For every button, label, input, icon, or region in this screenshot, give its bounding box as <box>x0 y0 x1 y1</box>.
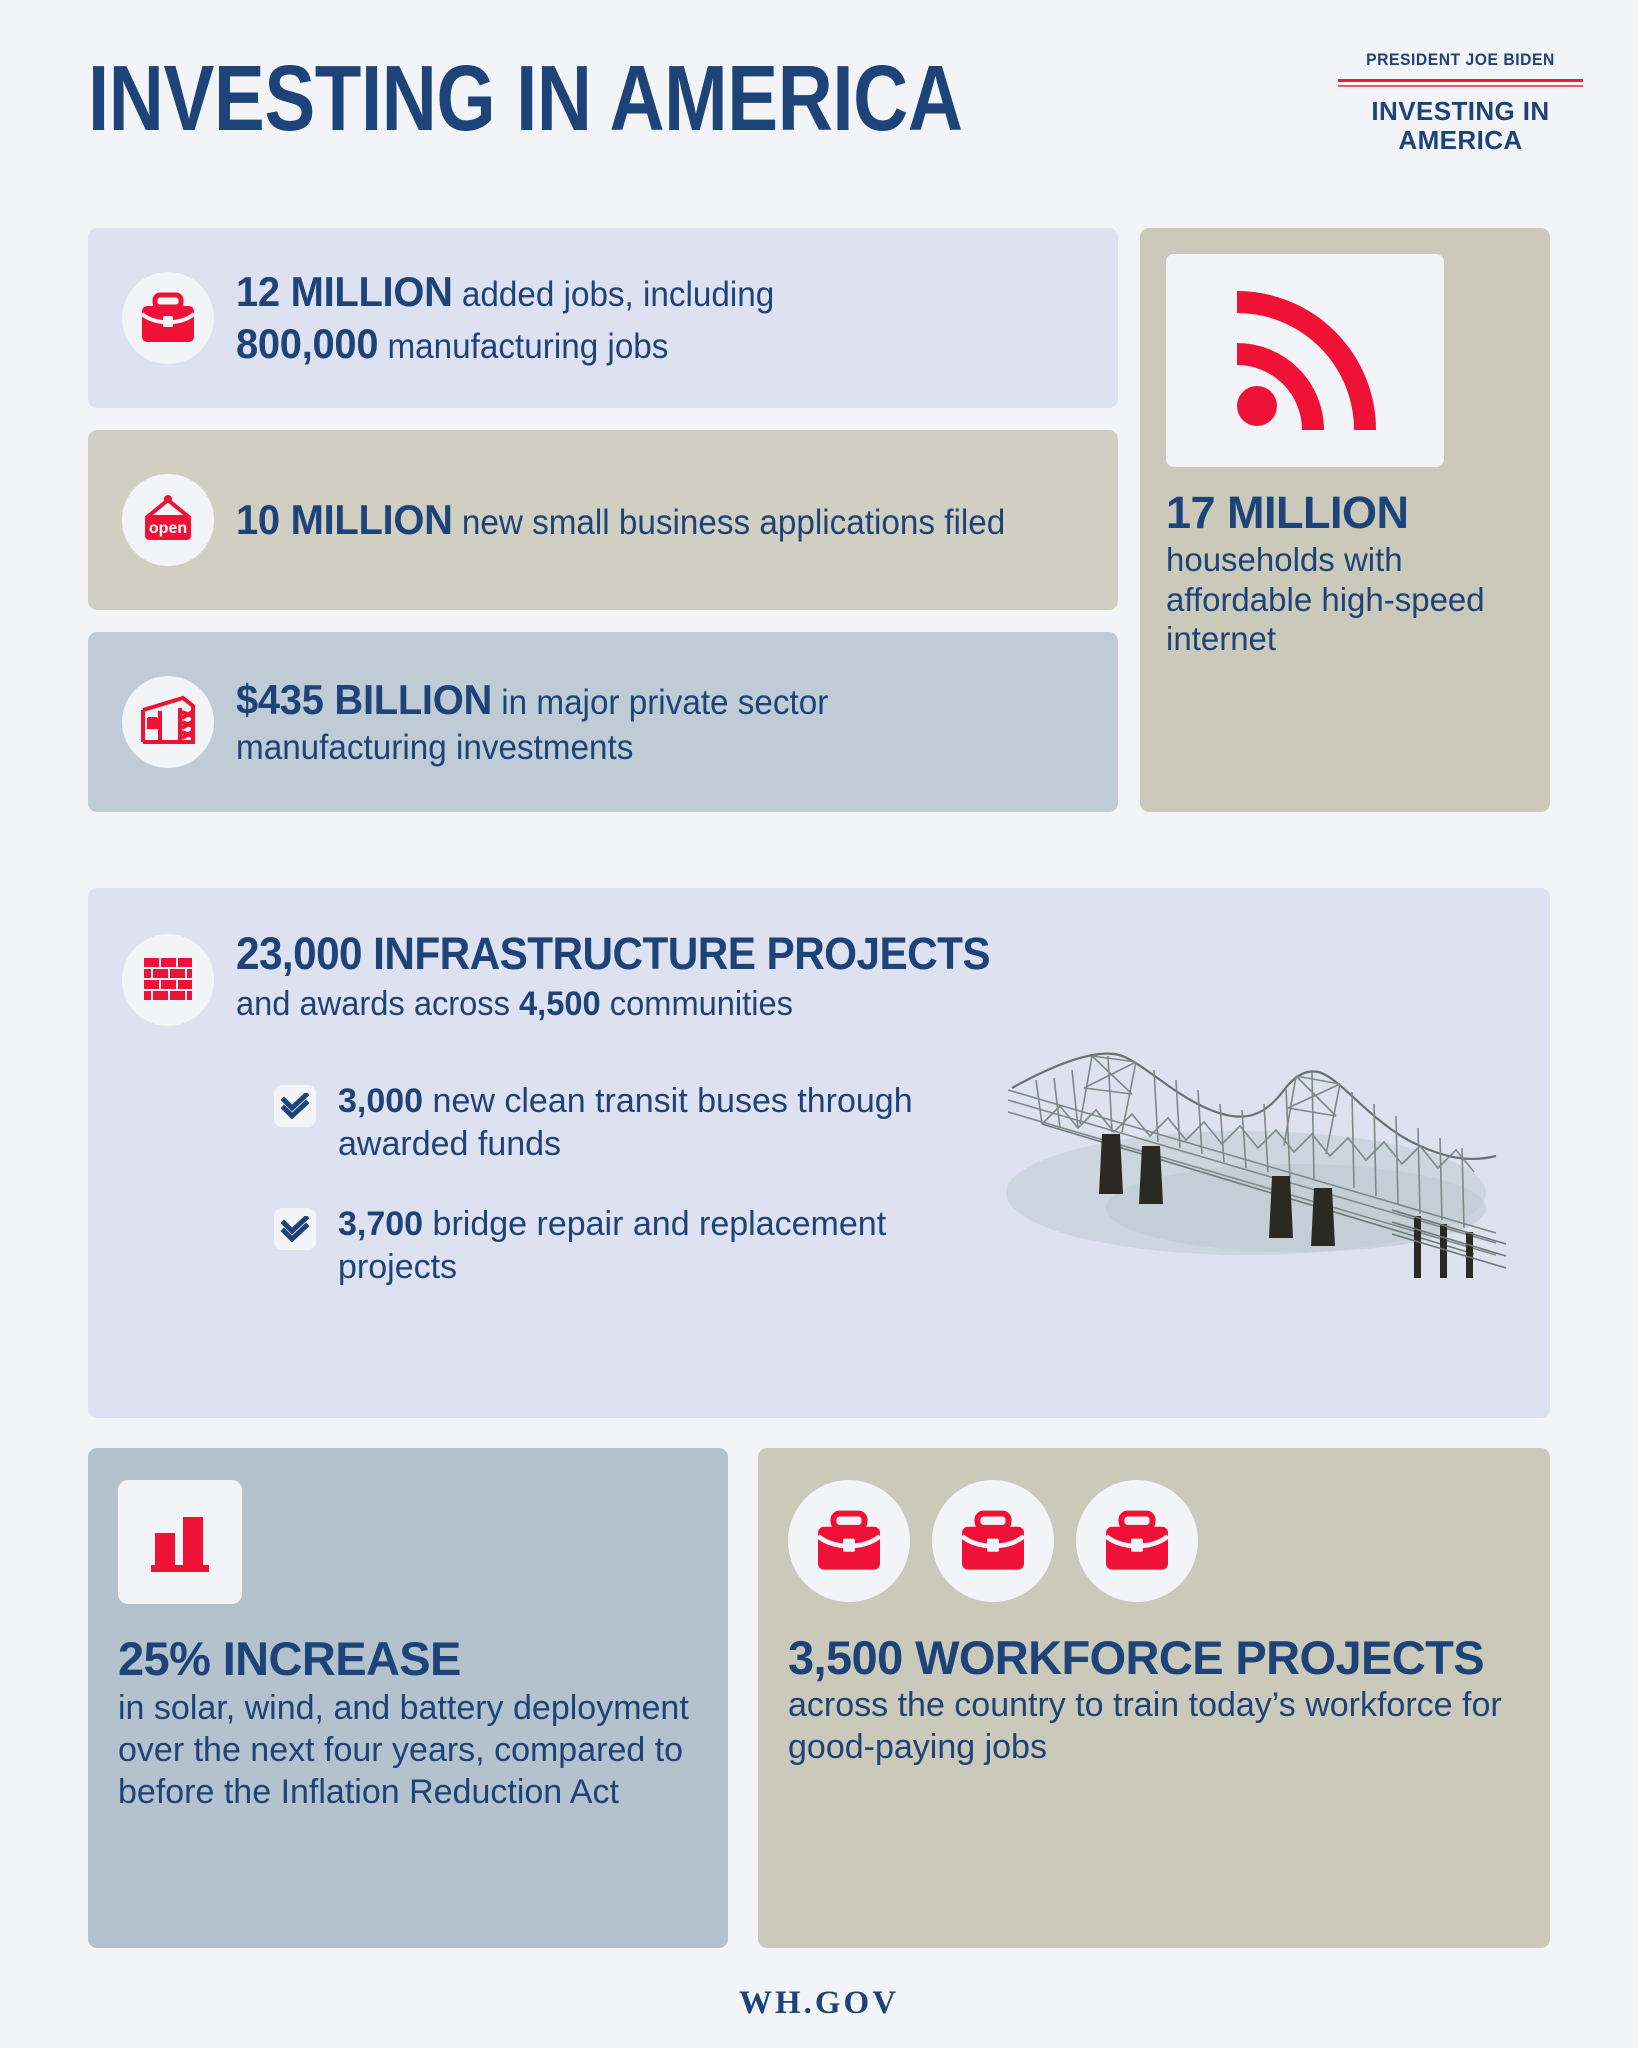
infrastructure-subtitle: and awards across 4,500 communities <box>236 984 1006 1025</box>
clean-energy-headline: 25% INCREASE <box>118 1634 698 1685</box>
workforce-label: across the country to train today’s work… <box>788 1686 1502 1766</box>
logo-wordmark-line1: INVESTING IN <box>1338 97 1583 126</box>
broadband-card: 17 MILLION households with affordable hi… <box>1140 228 1550 812</box>
clean-energy-card: 25% INCREASE in solar, wind, and battery… <box>88 1448 728 1948</box>
infographic-page: INVESTING IN AMERICA PRESIDENT JOE BIDEN… <box>0 0 1638 2048</box>
logo-wordmark: INVESTING IN AMERICA <box>1338 97 1583 155</box>
brick-wall-icon <box>122 934 214 1026</box>
stat-manufacturing-value: $435 BILLION <box>236 676 492 723</box>
broadband-body: households with affordable high-speed in… <box>1166 540 1524 659</box>
open-sign-icon: open <box>122 474 214 566</box>
stat-card-jobs-text: 12 MILLION added jobs, including 800,000… <box>236 266 774 371</box>
clean-energy-body: in solar, wind, and battery deployment o… <box>118 1687 698 1813</box>
bullet-label-buses: new clean transit buses through awarded … <box>338 1082 913 1163</box>
page-title: INVESTING IN AMERICA <box>88 52 962 145</box>
footer-wh-gov[interactable]: WH.GOV <box>0 1985 1638 2022</box>
stat-jobs-value-primary: 12 MILLION <box>236 268 453 315</box>
briefcase-icon <box>122 272 214 364</box>
stat-small-business-text: new small business applications filed <box>453 503 1006 542</box>
stat-card-jobs: 12 MILLION added jobs, including 800,000… <box>88 228 1118 408</box>
broadband-icon-panel <box>1166 254 1444 467</box>
briefcase-icon <box>788 1480 910 1602</box>
stat-card-manufacturing-text: $435 BILLION in major private sector man… <box>236 674 1042 770</box>
infrastructure-card: 23,000 INFRASTRUCTURE PROJECTS and award… <box>88 888 1550 1418</box>
briefcase-icon <box>932 1480 1054 1602</box>
stat-jobs-value-secondary: 800,000 <box>236 320 378 367</box>
infrastructure-title: 23,000 INFRASTRUCTURE PROJECTS <box>236 930 990 977</box>
workforce-text: 3,500 WORKFORCE PROJECTS across the coun… <box>788 1632 1520 1768</box>
investing-in-america-logo: PRESIDENT JOE BIDEN INVESTING IN AMERICA <box>1338 50 1583 155</box>
infrastructure-heading-block: 23,000 INFRASTRUCTURE PROJECTS and award… <box>236 930 1038 1025</box>
workforce-icon-row <box>788 1480 1520 1602</box>
infrastructure-sub-post: communities <box>601 985 793 1023</box>
stat-small-business-value: 10 MILLION <box>236 496 453 543</box>
svg-text:open: open <box>149 520 187 537</box>
briefcase-icon <box>1076 1480 1198 1602</box>
header: INVESTING IN AMERICA PRESIDENT JOE BIDEN… <box>0 0 1638 200</box>
stat-jobs-text-1: added jobs, including <box>453 275 775 314</box>
bar-chart-icon <box>118 1480 242 1604</box>
workforce-value: 3,500 WORKFORCE PROJECTS <box>788 1631 1484 1684</box>
wifi-signal-icon <box>1230 288 1380 433</box>
workforce-card: 3,500 WORKFORCE PROJECTS across the coun… <box>758 1448 1550 1948</box>
infrastructure-sub-pre: and awards across <box>236 985 519 1023</box>
double-check-icon <box>274 1208 316 1250</box>
stat-card-small-business-text: 10 MILLION new small business applicatio… <box>236 494 1005 547</box>
logo-president-label: PRESIDENT JOE BIDEN <box>1348 50 1573 70</box>
bridge-illustration <box>996 1028 1516 1278</box>
bullet-text-bridges: 3,700 bridge repair and replacement proj… <box>338 1203 898 1288</box>
infrastructure-sub-value: 4,500 <box>519 985 601 1023</box>
broadband-headline: 17 MILLION <box>1166 489 1524 536</box>
stat-card-manufacturing: $435 BILLION in major private sector man… <box>88 632 1118 812</box>
bullet-value-bridges: 3,700 <box>338 1205 423 1243</box>
stat-jobs-text-2: manufacturing jobs <box>378 327 668 366</box>
double-check-icon <box>274 1085 316 1127</box>
bullet-value-buses: 3,000 <box>338 1082 423 1120</box>
bullet-text-buses: 3,000 new clean transit buses through aw… <box>338 1080 958 1165</box>
logo-wordmark-line2: AMERICA <box>1338 126 1583 155</box>
factory-icon <box>122 676 214 768</box>
stat-card-small-business: open 10 MILLION new small business appli… <box>88 430 1118 610</box>
logo-divider <box>1338 79 1583 87</box>
infrastructure-header: 23,000 INFRASTRUCTURE PROJECTS and award… <box>122 930 1510 1026</box>
